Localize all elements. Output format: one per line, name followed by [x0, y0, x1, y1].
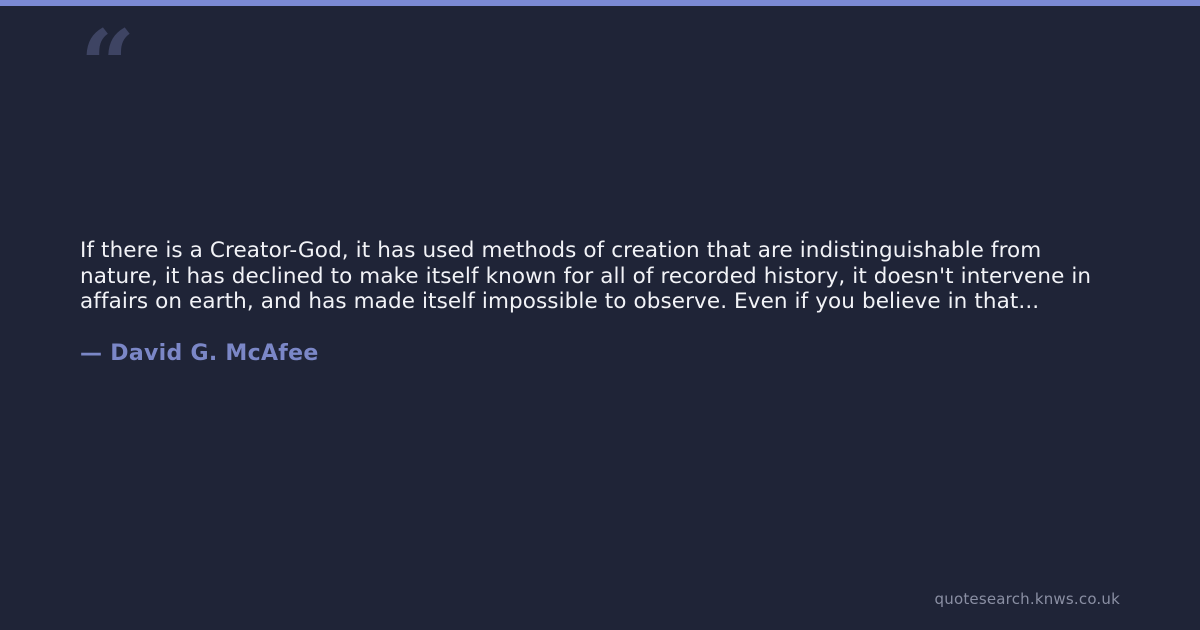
quote-body: If there is a Creator-God, it has used m… — [80, 238, 1116, 315]
quote-card: “ If there is a Creator-God, it has used… — [0, 0, 1200, 630]
opening-quotation-mark-icon: “ — [80, 18, 133, 114]
quote-text: If there is a Creator-God, it has used m… — [80, 238, 1116, 315]
site-watermark: quotesearch.knws.co.uk — [935, 590, 1120, 608]
quote-author: — David G. McAfee — [80, 339, 319, 369]
top-accent-bar — [0, 0, 1200, 6]
